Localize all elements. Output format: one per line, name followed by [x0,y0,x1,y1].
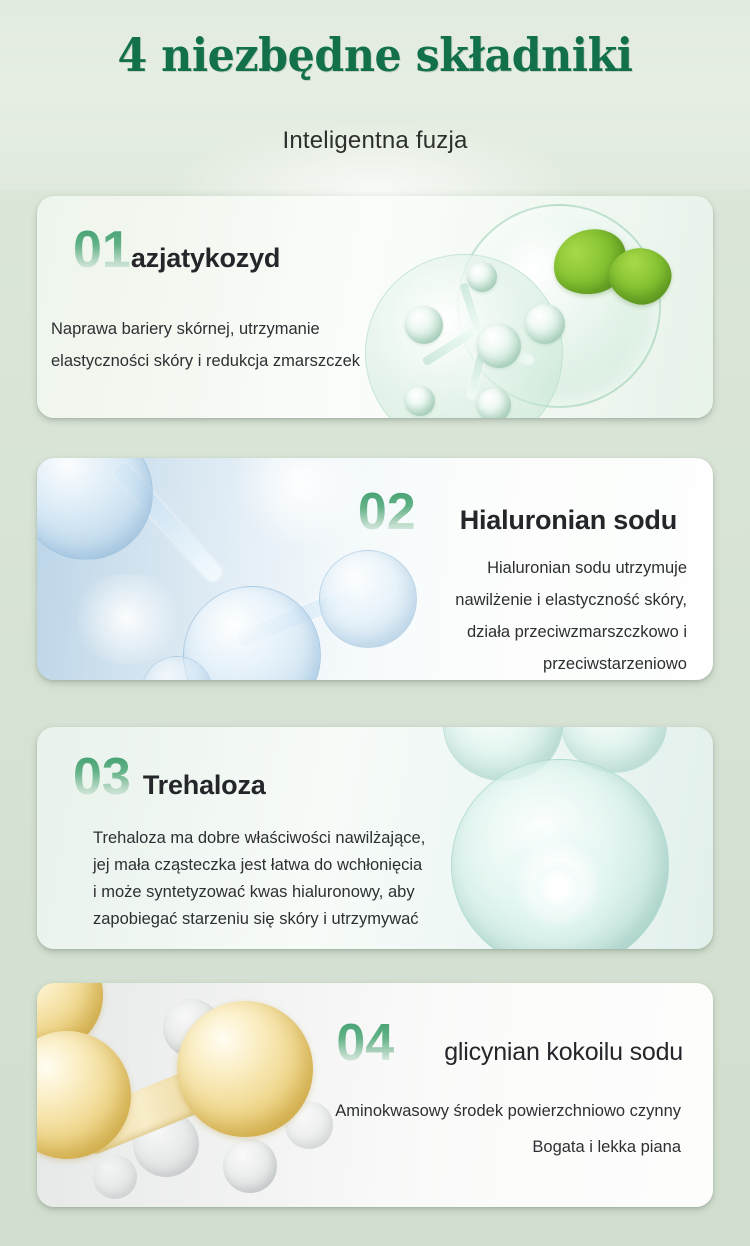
card-content: 03 Trehaloza Trehaloza ma dobre właściwo… [37,727,713,949]
ingredient-name: glicynian kokoilu sodu [444,1040,683,1065]
description-line: przeciwstarzeniowo [455,648,687,680]
card-description: Aminokwasowy środek powierzchniowo czynn… [335,1093,681,1165]
description-line: nawilżenie i elastyczność skóry, [455,584,687,616]
card-description: Naprawa bariery skórnej, utrzymanie elas… [51,313,360,377]
card-content: 02 Hialuronian sodu Hialuronian sodu utr… [37,458,713,680]
ingredient-card-02[interactable]: 02 Hialuronian sodu Hialuronian sodu utr… [37,458,713,680]
card-heading-row: 03 Trehaloza [73,751,266,803]
description-line: działa przeciwzmarszczkowo i [455,616,687,648]
card-description: Hialuronian sodu utrzymuje nawilżenie i … [455,552,687,680]
description-line: Naprawa bariery skórnej, utrzymanie [51,313,360,345]
ingredient-card-04[interactable]: 04 glicynian kokoilu sodu Aminokwasowy ś… [37,983,713,1207]
card-number: 03 [73,751,131,803]
description-line: elastyczności skóry i redukcja zmarszcze… [51,345,360,377]
description-line: i może syntetyzować kwas hialuronowy, ab… [93,879,425,906]
ingredient-name: Trehaloza [143,772,266,799]
page-subtitle: Inteligentna fuzja [0,127,750,155]
ingredient-card-03[interactable]: 03 Trehaloza Trehaloza ma dobre właściwo… [37,727,713,949]
page-title: 4 niezbędne składniki [26,28,724,82]
page-header: 4 niezbędne składniki Inteligentna fuzja [0,0,750,190]
card-content: 01 azjatykozyd Naprawa bariery skórnej, … [37,196,713,418]
card-number: 04 [336,1017,394,1069]
ingredient-card-01[interactable]: 01 azjatykozyd Naprawa bariery skórnej, … [37,196,713,418]
ingredient-name: azjatykozyd [131,245,280,272]
description-line: Bogata i lekka piana [335,1129,681,1165]
description-line: Hialuronian sodu utrzymuje [455,552,687,584]
description-line: zapobiegać starzeniu się skóry i utrzymy… [93,906,425,933]
description-line: Trehaloza ma dobre właściwości nawilżają… [93,825,425,852]
card-heading-row: 01 azjatykozyd [73,224,280,276]
card-number: 01 [73,224,131,276]
description-line: jej mała cząsteczka jest łatwa do wchłon… [93,852,425,879]
card-content: 04 glicynian kokoilu sodu Aminokwasowy ś… [37,983,713,1207]
description-line: Aminokwasowy środek powierzchniowo czynn… [335,1093,681,1129]
card-description: Trehaloza ma dobre właściwości nawilżają… [93,825,425,933]
card-heading-row: 02 Hialuronian sodu [358,486,677,538]
ingredient-name: Hialuronian sodu [460,507,677,534]
card-heading-row: 04 glicynian kokoilu sodu [336,1017,683,1069]
card-number: 02 [358,486,416,538]
